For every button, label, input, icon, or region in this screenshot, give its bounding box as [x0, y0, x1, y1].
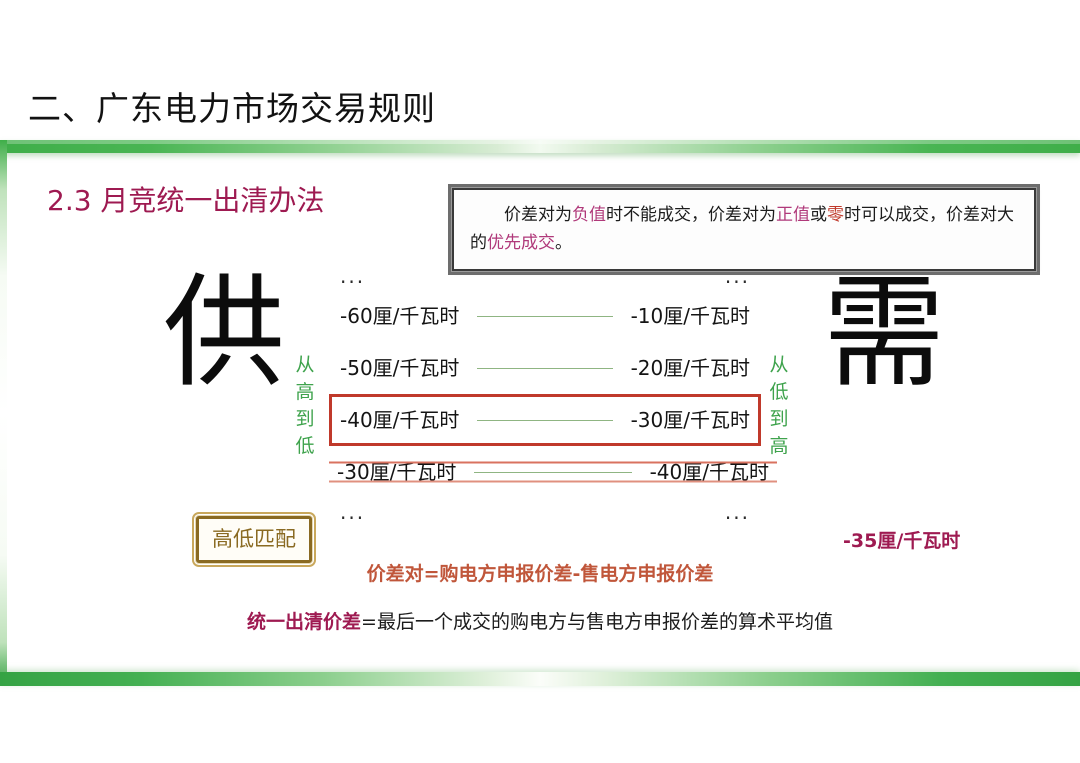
- supply-order-char-1: 高: [292, 379, 318, 406]
- callout-text-1: 价差对为: [504, 205, 572, 225]
- callout-highlight-zero: 零: [827, 205, 844, 225]
- top-green-bar: [0, 140, 1080, 153]
- supply-order-label: 从 高 到 低: [292, 352, 318, 460]
- match-connector-line: [474, 472, 631, 473]
- demand-bid-value: -40厘/千瓦时: [650, 459, 769, 485]
- clearing-price-value: -35厘/千瓦时: [843, 528, 960, 554]
- supply-bid-value: -60厘/千瓦时: [340, 303, 459, 329]
- supply-order-char-2: 到: [292, 406, 318, 433]
- ladder-row: -60厘/千瓦时 -10厘/千瓦时: [340, 290, 750, 342]
- supply-order-char-0: 从: [292, 352, 318, 379]
- clearing-price-formula: 统一出清价差=最后一个成交的购电方与售电方申报价差的算术平均值: [0, 608, 1080, 636]
- supply-bid-value: -40厘/千瓦时: [340, 407, 459, 433]
- callout-highlight-negative: 负值: [572, 205, 606, 225]
- supply-character: 供: [163, 272, 285, 394]
- callout-highlight-priority: 优先成交: [487, 233, 555, 253]
- slide-canvas: 二、广东电力市场交易规则 2.3 月竞统一出清办法 价差对为负值时不能成交，价差…: [0, 0, 1080, 763]
- clearing-formula-lead: 统一出清价差: [247, 611, 361, 633]
- demand-character: 需: [823, 272, 945, 394]
- ladder-dots-row-top: ... ...: [340, 262, 750, 290]
- supply-order-char-3: 低: [292, 433, 318, 460]
- demand-dots-bottom: ...: [725, 499, 750, 525]
- match-connector-line: [477, 368, 612, 369]
- left-green-bar: [0, 140, 7, 686]
- ladder-row-matched: -40厘/千瓦时 -30厘/千瓦时: [329, 394, 761, 446]
- supply-bid-value: -30厘/千瓦时: [337, 459, 456, 485]
- ladder-row-rejected: -30厘/千瓦时 -40厘/千瓦时: [329, 446, 777, 498]
- demand-order-label: 从 低 到 高: [766, 352, 792, 460]
- supply-dots-top: ...: [340, 263, 365, 289]
- demand-bid-value: -20厘/千瓦时: [631, 355, 750, 381]
- price-diff-formula: 价差对=购电方申报价差-售电方申报价差: [0, 560, 1080, 588]
- supply-dots-bottom: ...: [340, 499, 365, 525]
- clearing-formula-rest: =最后一个成交的购电方与售电方申报价差的算术平均值: [361, 611, 833, 633]
- match-connector-line: [477, 420, 612, 421]
- demand-order-char-0: 从: [766, 352, 792, 379]
- callout-text-2: 时不能成交，价差对为: [606, 205, 776, 225]
- demand-order-char-2: 到: [766, 406, 792, 433]
- demand-order-char-1: 低: [766, 379, 792, 406]
- supply-bid-value: -50厘/千瓦时: [340, 355, 459, 381]
- bottom-green-bar: [0, 672, 1080, 686]
- page-title: 二、广东电力市场交易规则: [28, 88, 436, 130]
- section-heading: 2.3 月竞统一出清办法: [47, 183, 324, 219]
- demand-dots-top: ...: [725, 263, 750, 289]
- high-low-match-badge: 高低匹配: [196, 516, 312, 563]
- ladder-row: -50厘/千瓦时 -20厘/千瓦时: [340, 342, 750, 394]
- rule-callout-box: 价差对为负值时不能成交，价差对为正值或零时可以成交，价差对大的优先成交。: [452, 188, 1036, 271]
- ladder-dots-row-bottom: ... ...: [340, 498, 750, 526]
- callout-highlight-positive: 正值: [776, 205, 810, 225]
- callout-text-3: 或: [810, 205, 827, 225]
- match-connector-line: [477, 316, 612, 317]
- callout-text-5: 。: [555, 233, 572, 253]
- bid-ladder: ... ... -60厘/千瓦时 -10厘/千瓦时 -50厘/千瓦时 -20厘/…: [340, 262, 750, 526]
- top-green-bar-gloss: [0, 140, 1080, 144]
- demand-bid-value: -10厘/千瓦时: [631, 303, 750, 329]
- demand-bid-value: -30厘/千瓦时: [631, 407, 750, 433]
